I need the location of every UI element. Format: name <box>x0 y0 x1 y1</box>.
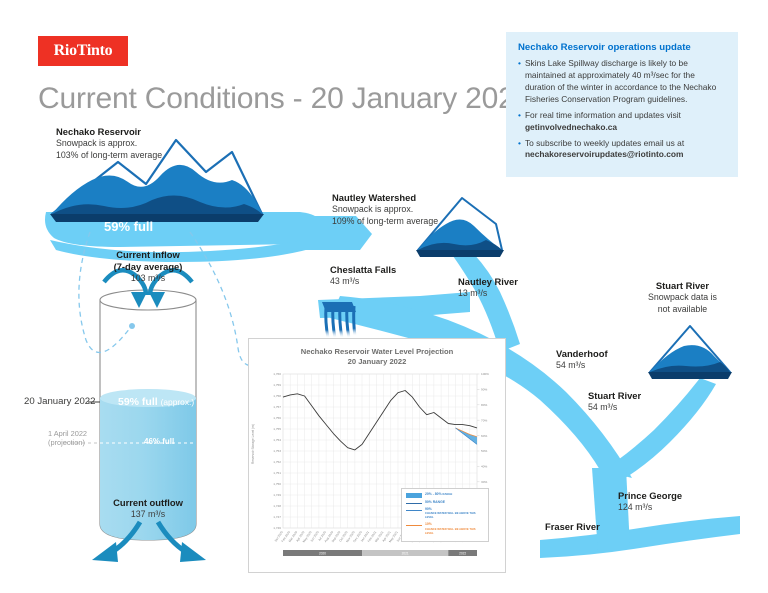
reservoir-percent-full: 59% full <box>104 219 153 234</box>
svg-text:1,754: 1,754 <box>273 438 281 442</box>
info-bullet-item: • To subscribe to weekly updates email u… <box>518 138 726 162</box>
legend-row: 90%CHANCE WATER WILL BE ABOVE THIS LEVEL <box>406 507 484 520</box>
flow-name: Vanderhoof <box>556 348 608 360</box>
outflow-title: Current outflow <box>96 497 200 509</box>
nechako-website-link[interactable]: getinvolvednechako.ca <box>525 122 617 132</box>
reservoir-snowpack-2: 103% of long-term average <box>56 150 162 161</box>
flow-name: Stuart River <box>588 390 641 402</box>
stuart-snowpack-2: not available <box>648 304 717 315</box>
inflow-title: Current inflow <box>96 249 200 261</box>
stuart-snowpack-1: Snowpack data is <box>648 292 717 303</box>
chart-title: Nechako Reservoir Water Level Projection <box>249 347 505 357</box>
svg-text:2020: 2020 <box>319 551 326 555</box>
legend-label: 90%CHANCE WATER WILL BE ABOVE THIS LEVEL <box>425 507 484 520</box>
label-vanderhoof: Vanderhoof 54 m³/s <box>556 348 608 372</box>
flow-value: 124 m³/s <box>618 502 682 513</box>
chart-subtitle: 20 January 2022 <box>249 357 505 367</box>
svg-text:1,746: 1,746 <box>273 526 281 530</box>
svg-text:50%: 50% <box>481 449 487 453</box>
label-nautley-watershed: Nautley Watershed Snowpack is approx. 10… <box>332 192 438 227</box>
svg-text:1,758: 1,758 <box>273 394 281 398</box>
tank-current-percent: 59% full (approx.) <box>118 396 194 408</box>
chart-y-axis-title: Reservoir Storage Level (m) <box>251 424 255 464</box>
nautley-name: Nautley Watershed <box>332 192 438 204</box>
svg-text:1,748: 1,748 <box>273 504 281 508</box>
svg-text:30%: 30% <box>481 480 487 484</box>
flow-name: Cheslatta Falls <box>330 264 396 276</box>
svg-text:2022: 2022 <box>459 551 466 555</box>
stuart-watershed-name: Stuart River <box>648 280 717 292</box>
info-bullet-item: • Skins Lake Spillway discharge is likel… <box>518 58 726 106</box>
inflow-sub: (7-day average) <box>96 261 200 273</box>
subscribe-email-link[interactable]: nechakoreservoirupdates@riotinto.com <box>525 149 684 159</box>
nautley-snowpack-2: 109% of long-term average <box>332 216 438 227</box>
svg-text:1,760: 1,760 <box>273 372 281 376</box>
info-bullet-item: • For real time information and updates … <box>518 110 726 134</box>
tank-projection-date: 1 April 2022 (projection) <box>48 429 87 448</box>
svg-text:100%: 100% <box>481 372 489 376</box>
operations-update-title: Nechako Reservoir operations update <box>518 42 726 53</box>
svg-text:1,749: 1,749 <box>273 493 281 497</box>
svg-text:1,750: 1,750 <box>273 482 281 486</box>
flow-value: 54 m³/s <box>556 360 608 371</box>
svg-text:1,755: 1,755 <box>273 427 281 431</box>
legend-swatch <box>406 493 422 498</box>
svg-text:1,756: 1,756 <box>273 416 281 420</box>
outflow-arrowhead-left-icon <box>92 542 118 562</box>
info-bullet-text: For real time information and updates vi… <box>525 110 726 134</box>
legend-row: 50% RANGE <box>406 500 484 504</box>
svg-text:90%: 90% <box>481 387 487 391</box>
bullet-icon: • <box>518 138 521 162</box>
label-cheslatta-falls: Cheslatta Falls 43 m³/s <box>330 264 396 288</box>
info-bullet-text: To subscribe to weekly updates email us … <box>525 138 726 162</box>
tank-current-date: 20 January 2022 <box>24 396 95 407</box>
legend-label: 20% - 80% RANGE <box>425 492 452 496</box>
flow-value: 43 m³/s <box>330 276 396 287</box>
label-nechako-reservoir: Nechako Reservoir Snowpack is approx. 10… <box>56 126 162 161</box>
svg-text:80%: 80% <box>481 403 487 407</box>
legend-row: 10%CHANCE WATER WILL BE ABOVE THIS LEVEL <box>406 522 484 535</box>
label-stuart-river: Stuart River 54 m³/s <box>588 390 641 414</box>
svg-text:60%: 60% <box>481 433 487 437</box>
label-prince-george: Prince George 124 m³/s <box>618 490 682 514</box>
reservoir-name: Nechako Reservoir <box>56 126 162 138</box>
flow-name: Prince George <box>618 490 682 502</box>
legend-label: 10%CHANCE WATER WILL BE ABOVE THIS LEVEL <box>425 522 484 535</box>
inflow-value: 103 m³/s <box>96 273 200 284</box>
water-level-projection-chart: Nechako Reservoir Water Level Projection… <box>248 338 506 573</box>
info-bullet-text: Skins Lake Spillway discharge is likely … <box>525 58 726 106</box>
rio-tinto-logo: RioTinto <box>38 36 128 66</box>
flow-value: 54 m³/s <box>588 402 641 413</box>
bullet-icon: • <box>518 58 521 106</box>
legend-swatch <box>406 510 422 511</box>
svg-text:1,752: 1,752 <box>273 460 281 464</box>
chart-title-block: Nechako Reservoir Water Level Projection… <box>249 339 505 368</box>
svg-text:1,751: 1,751 <box>273 471 281 475</box>
legend-row: 20% - 80% RANGE <box>406 492 484 498</box>
outflow-value: 137 m³/s <box>96 509 200 520</box>
svg-text:70%: 70% <box>481 418 487 422</box>
tank-projection-percent: 46% full <box>144 437 174 446</box>
chart-plot-area: Reservoir Storage Level (m) 1,7601,7591,… <box>249 368 507 564</box>
svg-text:2021: 2021 <box>402 551 409 555</box>
svg-text:1,757: 1,757 <box>273 405 281 409</box>
label-nautley-river: Nautley River 13 m³/s <box>458 276 518 300</box>
bullet-icon: • <box>518 110 521 134</box>
chart-legend: 20% - 80% RANGE50% RANGE90%CHANCE WATER … <box>401 488 489 542</box>
outflow-arrowhead-right-icon <box>180 542 206 562</box>
logo-text: RioTinto <box>54 42 113 60</box>
flow-name: Fraser River <box>545 521 600 533</box>
operations-update-panel: Nechako Reservoir operations update • Sk… <box>506 32 738 177</box>
leader-dot-left-icon <box>129 323 135 329</box>
svg-text:40%: 40% <box>481 464 487 468</box>
legend-swatch <box>406 503 422 504</box>
flow-value: 13 m³/s <box>458 288 518 299</box>
svg-text:1,759: 1,759 <box>273 383 281 387</box>
svg-text:1,753: 1,753 <box>273 449 281 453</box>
label-current-inflow: Current inflow (7-day average) 103 m³/s <box>96 249 200 285</box>
svg-text:1,747: 1,747 <box>273 515 281 519</box>
label-stuart-watershed: Stuart River Snowpack data is not availa… <box>648 280 717 315</box>
flow-name: Nautley River <box>458 276 518 288</box>
label-current-outflow: Current outflow 137 m³/s <box>96 497 200 521</box>
legend-swatch <box>406 525 422 526</box>
label-fraser-river: Fraser River <box>545 521 600 533</box>
reservoir-snowpack-1: Snowpack is approx. <box>56 138 162 149</box>
legend-label: 50% RANGE <box>425 500 445 504</box>
nautley-snowpack-1: Snowpack is approx. <box>332 204 438 215</box>
stuart-mountain-icon <box>648 326 732 379</box>
page-title: Current Conditions - 20 January 2022 <box>38 82 531 116</box>
